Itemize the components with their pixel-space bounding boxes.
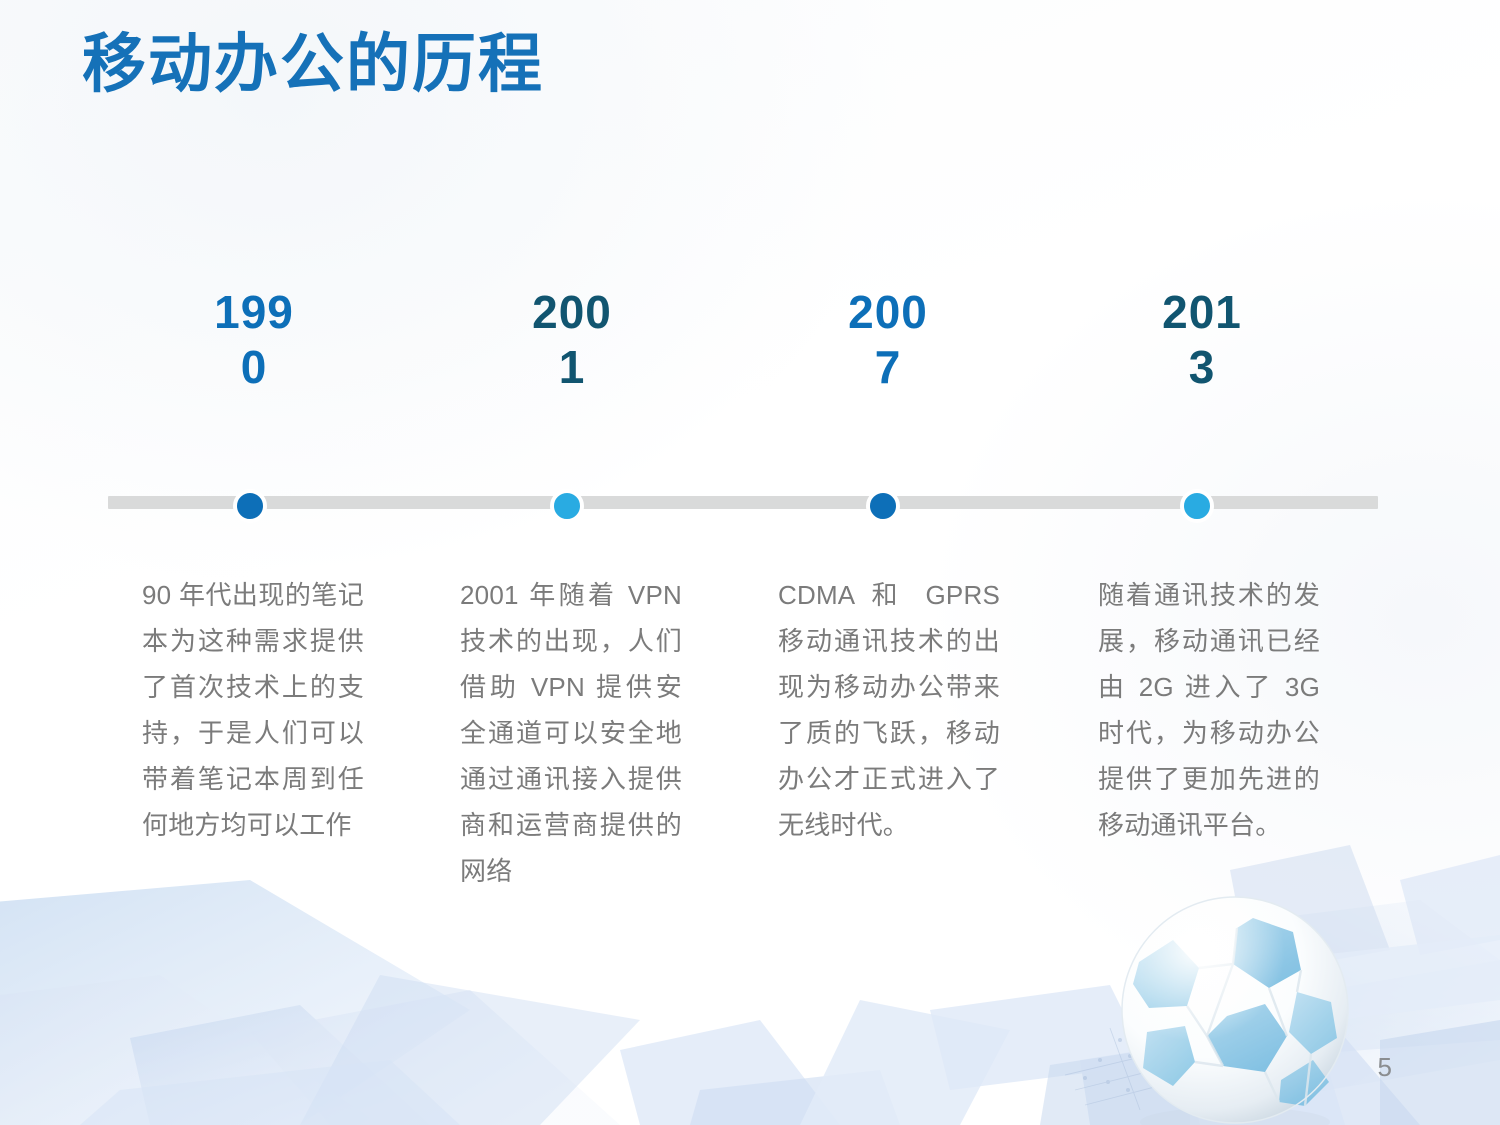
center-polygon-cluster	[620, 1000, 1010, 1125]
milestone-year-2007: 2007	[826, 285, 950, 395]
page-number: 5	[1378, 1052, 1392, 1083]
timeline-dot-2013[interactable]	[1180, 489, 1214, 523]
milestone-description-1990: 90 年代出现的笔记本为这种需求提供了首次技术上的支持，于是人们可以带着笔记本周…	[142, 572, 364, 848]
milestone-year-1990: 1990	[192, 285, 316, 395]
year-label: 2007	[845, 285, 931, 395]
page-title: 移动办公的历程	[82, 28, 544, 102]
slide-canvas: 移动办公的历程 1990 2001 2007 2013 90 年代出现的笔记本为…	[0, 0, 1500, 1125]
right-polygon-cluster	[930, 845, 1500, 1125]
year-label: 1990	[211, 285, 297, 395]
timeline-dot-1990[interactable]	[233, 489, 267, 523]
year-label: 2013	[1159, 285, 1245, 395]
year-label: 2001	[529, 285, 615, 395]
background-decoration	[0, 0, 1500, 1125]
left-polygon-cluster	[0, 880, 640, 1125]
milestone-description-2013: 随着通讯技术的发展，移动通讯已经由 2G 进入了 3G 时代，为移动办公提供了更…	[1098, 572, 1320, 848]
soccer-ball-icon	[1122, 897, 1348, 1125]
timeline-dot-2007[interactable]	[866, 489, 900, 523]
timeline-dot-2001[interactable]	[550, 489, 584, 523]
milestone-description-2001: 2001 年随着 VPN 技术的出现，人们借助 VPN 提供安全通道可以安全地通…	[460, 572, 682, 894]
mesh-texture	[1065, 1016, 1290, 1110]
milestone-year-2013: 2013	[1140, 285, 1264, 395]
milestone-year-2001: 2001	[510, 285, 634, 395]
milestone-description-2007: CDMA 和 GPRS 移动通讯技术的出现为移动办公带来了质的飞跃，移动办公才正…	[778, 572, 1000, 848]
